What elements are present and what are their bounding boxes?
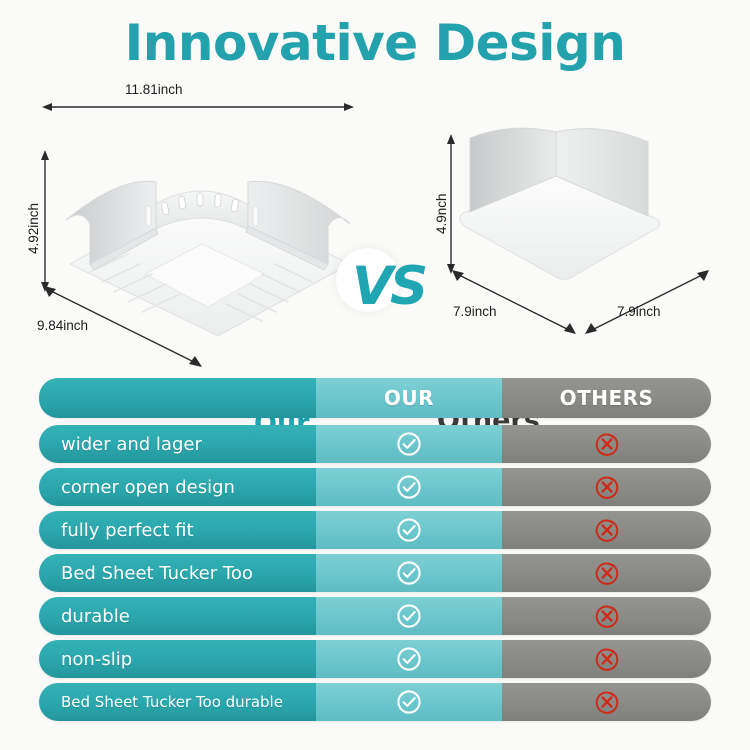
header-feature-cell [39,378,316,418]
row-feature-label: Bed Sheet Tucker Too [61,563,253,584]
row-feature-label: non-slip [61,649,132,670]
cross-circle-icon [594,431,620,457]
cross-circle-icon [594,560,620,586]
check-circle-icon [396,560,422,586]
header-others-cell: OTHERS [502,378,711,418]
check-circle-icon [396,474,422,500]
header-others-label: OTHERS [560,386,654,410]
others-depth-right-label: 7.9inch [617,304,661,319]
check-circle-icon [396,517,422,543]
row-our-cell [316,597,502,635]
row-feature-cell: Bed Sheet Tucker Too [39,554,316,592]
header-our-label: OUR [384,386,434,410]
row-others-cell [502,554,711,592]
row-feature-label: Bed Sheet Tucker Too durable [61,693,283,711]
row-others-cell [502,683,711,721]
row-feature-cell: corner open design [39,468,316,506]
table-row: wider and lager [39,425,711,463]
row-feature-cell: non-slip [39,640,316,678]
table-header-row: OUR OTHERS [39,378,711,418]
table-row: corner open design [39,468,711,506]
row-our-cell [316,554,502,592]
header-our-cell: OUR [316,378,502,418]
row-feature-label: wider and lager [61,434,202,455]
row-others-cell [502,511,711,549]
others-depth-right-dimension-arrow [583,270,709,336]
row-our-cell [316,683,502,721]
table-row: Bed Sheet Tucker Too durable [39,683,711,721]
cross-circle-icon [594,689,620,715]
row-others-cell [502,640,711,678]
others-height-label: 4.9nch [434,193,449,234]
row-feature-label: fully perfect fit [61,520,194,541]
our-width-label: 11.81inch [125,82,183,97]
check-circle-icon [396,603,422,629]
comparison-table: OUR OTHERS wider and lager corner open d… [39,378,711,726]
table-row: non-slip [39,640,711,678]
our-width-dimension-arrow [42,100,354,114]
cross-circle-icon [594,603,620,629]
table-rows-container: wider and lager corner open design fully… [39,425,711,721]
row-others-cell [502,468,711,506]
row-feature-cell: fully perfect fit [39,511,316,549]
others-depth-left-dimension-arrow [452,270,578,336]
row-feature-cell: wider and lager [39,425,316,463]
row-our-cell [316,468,502,506]
table-row: fully perfect fit [39,511,711,549]
row-feature-label: corner open design [61,477,235,498]
our-depth-label: 9.84inch [37,318,88,333]
row-feature-cell: durable [39,597,316,635]
table-row: durable [39,597,711,635]
infographic-page: Innovative Design [0,0,750,750]
check-circle-icon [396,431,422,457]
vs-badge-label: VS [352,260,425,313]
row-others-cell [502,597,711,635]
check-circle-icon [396,689,422,715]
row-feature-cell: Bed Sheet Tucker Too durable [39,683,316,721]
product-comparison-hero: 11.81inch 4.92inch 9.84inch VS [0,82,750,367]
our-height-label: 4.92inch [26,203,41,254]
cross-circle-icon [594,517,620,543]
cross-circle-icon [594,474,620,500]
row-our-cell [316,511,502,549]
check-circle-icon [396,646,422,672]
row-others-cell [502,425,711,463]
row-feature-label: durable [61,606,130,627]
row-our-cell [316,640,502,678]
table-row: Bed Sheet Tucker Too [39,554,711,592]
cross-circle-icon [594,646,620,672]
others-depth-left-label: 7.9inch [453,304,497,319]
row-our-cell [316,425,502,463]
page-title: Innovative Design [0,14,750,72]
